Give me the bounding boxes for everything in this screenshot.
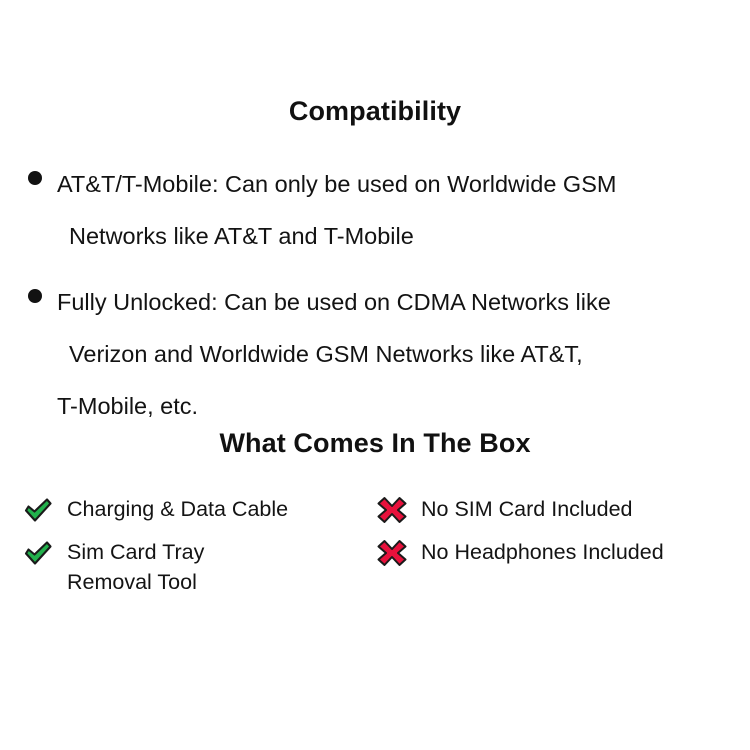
list-item: No Headphones Included (376, 537, 736, 571)
compatibility-text-line: AT&T/T-Mobile: Can only be used on World… (57, 158, 750, 210)
list-item: Sim Card Tray Removal Tool (22, 537, 372, 597)
list-item: Fully Unlocked: Can be used on CDMA Netw… (0, 276, 750, 432)
excluded-item-label: No SIM Card Included (421, 494, 633, 524)
included-item-label: Sim Card Tray Removal Tool (67, 537, 204, 597)
box-contents-heading: What Comes In The Box (0, 428, 750, 459)
green-check-icon (22, 538, 54, 568)
excluded-items-column: No SIM Card Included No Headphones Inclu… (376, 494, 736, 580)
included-item-label: Charging & Data Cable (67, 494, 288, 524)
compatibility-text-line: Verizon and Worldwide GSM Networks like … (57, 328, 750, 380)
compatibility-heading: Compatibility (0, 96, 750, 127)
excluded-item-label: No Headphones Included (421, 537, 664, 567)
list-item: Charging & Data Cable (22, 494, 372, 528)
bullet-dot-icon (28, 289, 42, 303)
bullet-dot-icon (28, 171, 42, 185)
included-items-column: Charging & Data Cable Sim Card Tray Remo… (22, 494, 372, 606)
red-cross-icon (376, 538, 408, 568)
compatibility-text-line: T-Mobile, etc. (57, 380, 750, 432)
compatibility-list: AT&T/T-Mobile: Can only be used on World… (0, 158, 750, 446)
green-check-icon (22, 495, 54, 525)
product-info-page: Compatibility AT&T/T-Mobile: Can only be… (0, 0, 750, 750)
compatibility-text-line: Networks like AT&T and T-Mobile (57, 210, 750, 262)
list-item: No SIM Card Included (376, 494, 736, 528)
red-cross-icon (376, 495, 408, 525)
box-contents-columns: Charging & Data Cable Sim Card Tray Remo… (0, 494, 750, 624)
list-item: AT&T/T-Mobile: Can only be used on World… (0, 158, 750, 262)
compatibility-text-line: Fully Unlocked: Can be used on CDMA Netw… (57, 276, 750, 328)
